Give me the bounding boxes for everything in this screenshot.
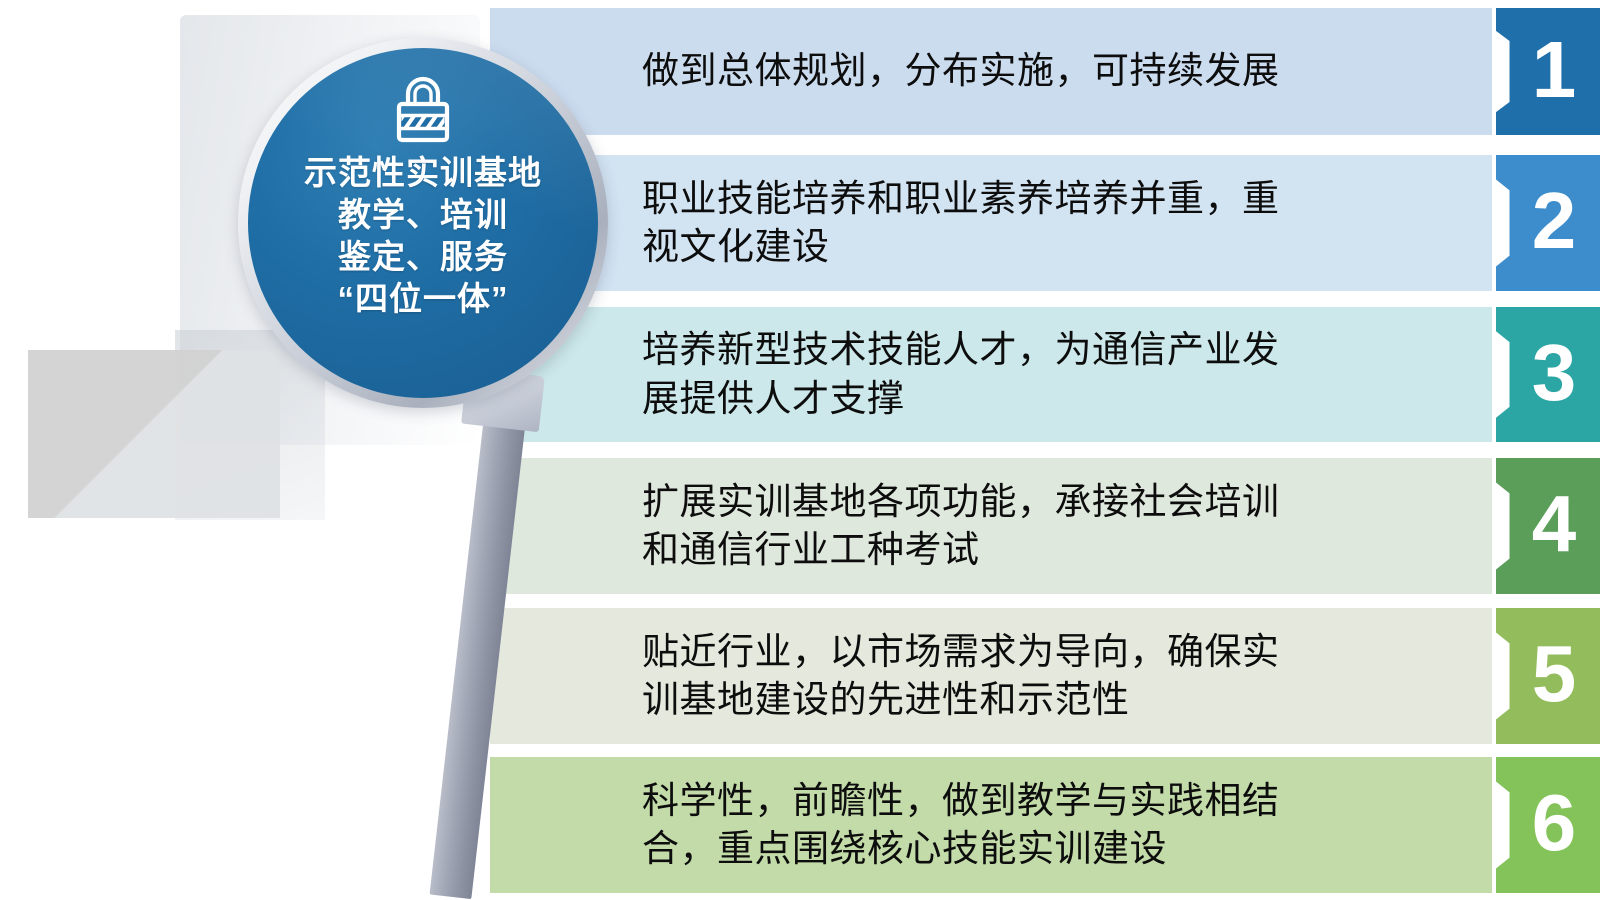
item-text: 培养新型技术技能人才，为通信产业发 展提供人才支撑 [642,326,1280,422]
item-text: 扩展实训基地各项功能，承接社会培训 和通信行业工种考试 [642,478,1280,574]
item-row: 培养新型技术技能人才，为通信产业发 展提供人才支撑3 [490,307,1600,442]
item-bar-1: 做到总体规划，分布实施，可持续发展 [490,8,1492,135]
item-list: 做到总体规划，分布实施，可持续发展1职业技能培养和职业素养培养并重，重 视文化建… [0,0,1600,900]
item-number: 3 [1532,333,1577,413]
item-row: 科学性，前瞻性，做到教学与实践相结 合，重点围绕核心技能实训建设6 [490,757,1600,893]
item-number: 5 [1532,634,1577,714]
item-number-badge-5: 5 [1496,608,1600,744]
item-number: 4 [1532,484,1577,564]
item-bar-4: 扩展实训基地各项功能，承接社会培训 和通信行业工种考试 [490,458,1492,594]
item-number-badge-6: 6 [1496,757,1600,893]
item-number-badge-2: 2 [1496,155,1600,291]
item-number-badge-3: 3 [1496,307,1600,442]
item-row: 做到总体规划，分布实施，可持续发展1 [490,8,1600,135]
item-text: 科学性，前瞻性，做到教学与实践相结 合，重点围绕核心技能实训建设 [642,777,1280,873]
item-row: 职业技能培养和职业素养培养并重，重 视文化建设2 [490,155,1600,291]
item-number-badge-1: 1 [1496,8,1600,135]
item-text: 职业技能培养和职业素养培养并重，重 视文化建设 [642,175,1280,271]
item-text: 做到总体规划，分布实施，可持续发展 [642,47,1280,95]
item-row: 扩展实训基地各项功能，承接社会培训 和通信行业工种考试4 [490,458,1600,594]
item-number: 6 [1532,783,1577,863]
item-number-badge-4: 4 [1496,458,1600,594]
item-bar-3: 培养新型技术技能人才，为通信产业发 展提供人才支撑 [490,307,1492,442]
item-row: 贴近行业，以市场需求为导向，确保实 训基地建设的先进性和示范性5 [490,608,1600,744]
item-number: 2 [1532,181,1577,261]
item-bar-6: 科学性，前瞻性，做到教学与实践相结 合，重点围绕核心技能实训建设 [490,757,1492,893]
item-bar-5: 贴近行业，以市场需求为导向，确保实 训基地建设的先进性和示范性 [490,608,1492,744]
item-bar-2: 职业技能培养和职业素养培养并重，重 视文化建设 [490,155,1492,291]
item-text: 贴近行业，以市场需求为导向，确保实 训基地建设的先进性和示范性 [642,628,1280,724]
item-number: 1 [1532,30,1577,110]
infographic-canvas: 做到总体规划，分布实施，可持续发展1职业技能培养和职业素养培养并重，重 视文化建… [0,0,1600,900]
